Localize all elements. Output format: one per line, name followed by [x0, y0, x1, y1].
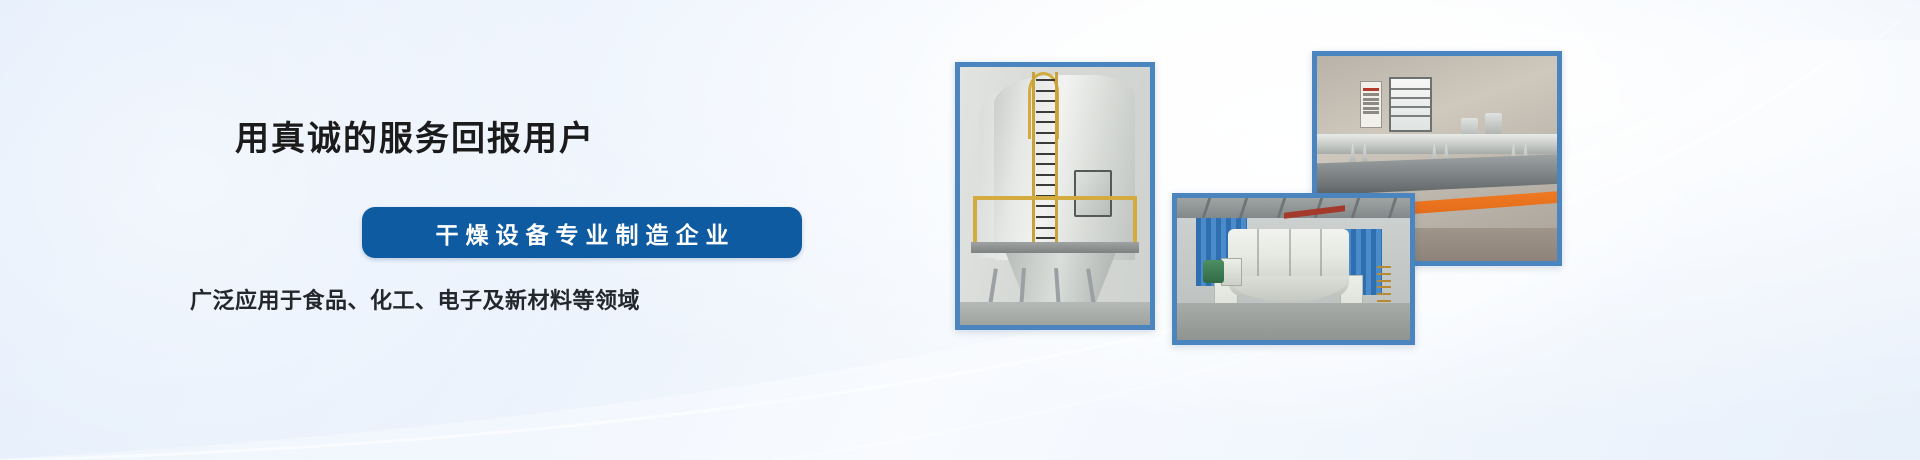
banner-headline: 用真诚的服务回报用户 — [0, 118, 830, 161]
gallery-photo-spray-dryer-tower — [955, 62, 1155, 330]
spray-dryer-scene — [960, 67, 1150, 325]
ribbon-mixer-scene — [1177, 198, 1410, 340]
banner-ribbon-label: 干燥设备专业制造企业 — [429, 216, 736, 250]
gallery-photo-ribbon-mixer — [1172, 193, 1415, 345]
hero-banner: 用真诚的服务回报用户 干燥设备专业制造企业 广泛应用于食品、化工、电子及新材料等… — [0, 0, 1920, 460]
banner-ribbon: 干燥设备专业制造企业 — [362, 207, 802, 258]
banner-subline: 广泛应用于食品、化工、电子及新材料等领域 — [0, 283, 830, 315]
banner-copy: 用真诚的服务回报用户 干燥设备专业制造企业 广泛应用于食品、化工、电子及新材料等… — [0, 0, 900, 460]
